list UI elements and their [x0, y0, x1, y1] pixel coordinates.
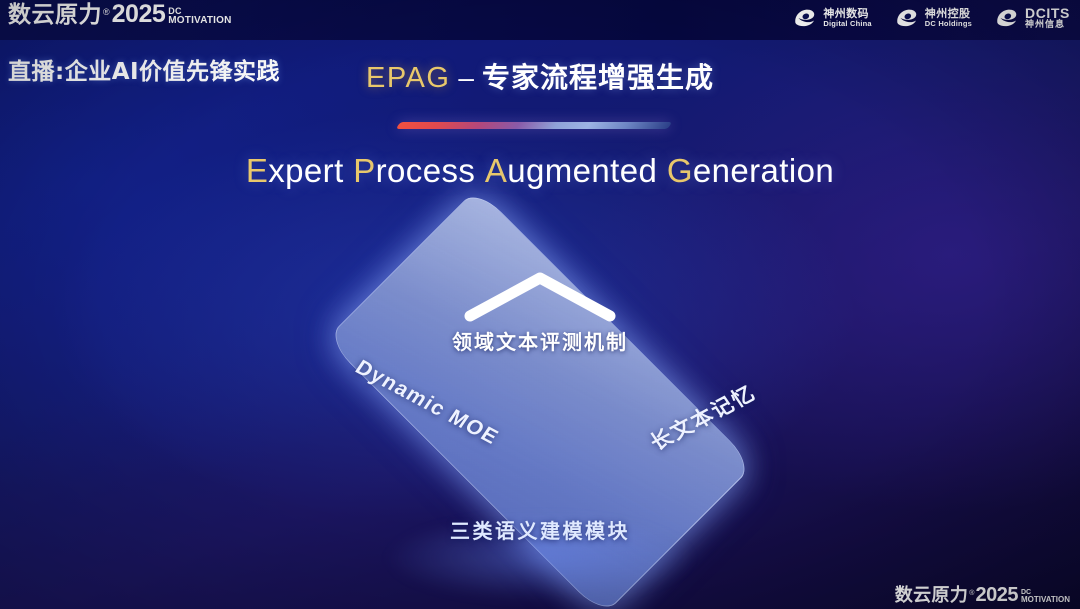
gradient-divider	[396, 122, 672, 129]
english-rest-augmented: ugmented	[507, 152, 657, 189]
diagram-label-bottom: 三类语义建模模块	[450, 515, 630, 544]
footer-logo-motivation: MOTIVATION	[1021, 596, 1070, 604]
partner-name-en: DC Holdings	[925, 20, 972, 28]
partner-name-cn: DCITS	[1025, 6, 1070, 21]
partner-logo-dc-holdings: 神州控股 DC Holdings	[894, 5, 972, 31]
english-rest-generation: eneration	[693, 152, 834, 189]
footer-logo-year: 2025	[975, 585, 1018, 605]
english-cap-p: P	[353, 152, 375, 189]
partner-name-en: 神州信息	[1025, 21, 1070, 31]
footer-watermark-logo: 数云原力 ® 2025 DC MOTIVATION	[895, 585, 1070, 605]
chevron-up-icon	[460, 268, 620, 324]
swirl-icon	[994, 5, 1020, 31]
event-logo-cn: 数云原力	[8, 4, 102, 27]
english-cap-g: G	[667, 152, 693, 189]
swirl-icon	[792, 5, 818, 31]
footer-logo-cn: 数云原力	[895, 587, 969, 605]
diagram-label-top: 领域文本评测机制	[452, 326, 628, 355]
event-logo-dc-motivation: DC MOTIVATION	[168, 7, 231, 26]
english-cap-a: A	[485, 152, 507, 189]
presentation-slide: 数云原力 ® 2025 DC MOTIVATION 直播:企业AI价值先锋实践 …	[0, 0, 1080, 609]
title-dash: –	[458, 62, 474, 93]
partner-logo-dcits: DCITS 神州信息	[994, 5, 1070, 31]
layered-architecture-diagram: 领域文本评测机制 Dynamic MOE 长文本记忆 三类语义建模模块	[228, 206, 852, 598]
title-acronym: EPAG	[366, 62, 450, 94]
partner-logo-digital-china: 神州数码 Digital China	[792, 5, 871, 31]
title-english-expansion: Expert Process Augmented Generation	[0, 152, 1080, 190]
live-session-title: 直播:企业AI价值先锋实践	[8, 52, 280, 86]
english-rest-process: rocess	[376, 152, 476, 189]
registered-mark: ®	[103, 8, 110, 17]
partner-name-en: Digital China	[823, 20, 871, 28]
swirl-icon	[894, 5, 920, 31]
footer-logo-dc-motivation: DC MOTIVATION	[1021, 589, 1070, 604]
footer-registered-mark: ®	[969, 590, 974, 597]
event-logo-year: 2025	[112, 2, 166, 27]
title-chinese: 专家流程增强生成	[482, 61, 714, 94]
event-logo: 数云原力 ® 2025 DC MOTIVATION	[8, 2, 232, 27]
partner-logo-bar: 神州数码 Digital China 神州控股 DC Holdings	[792, 5, 1070, 31]
english-rest-expert: xpert	[268, 152, 343, 189]
event-logo-motivation: MOTIVATION	[168, 16, 231, 26]
english-cap-e: E	[246, 152, 268, 189]
